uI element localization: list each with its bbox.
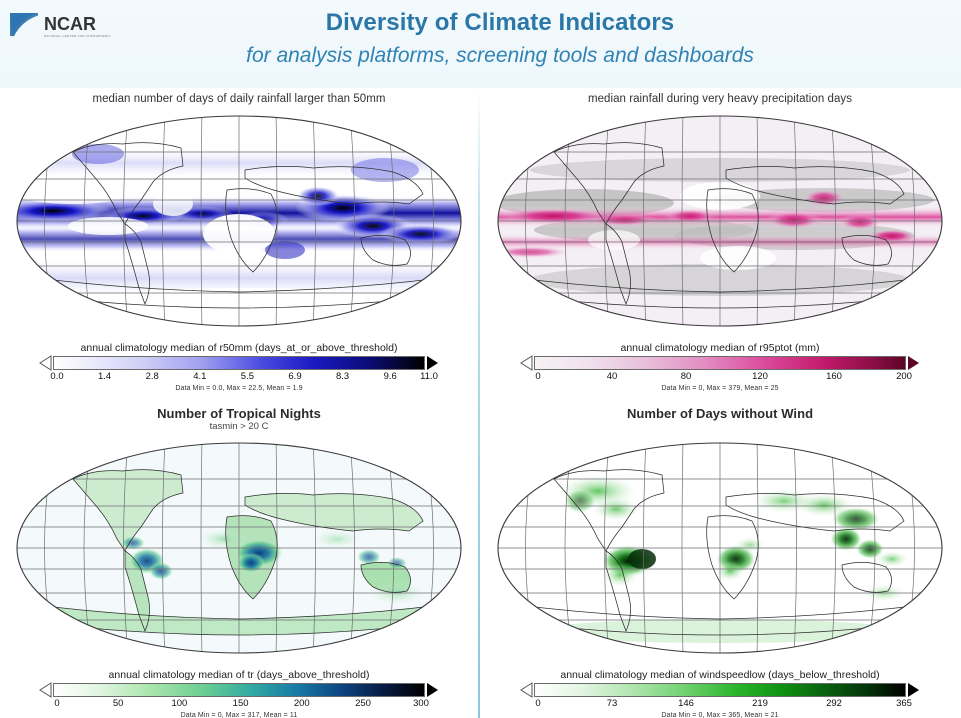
colorbar-right-arrow [906, 682, 920, 698]
tick: 2.8 [146, 371, 159, 382]
colorbar-ticks-r95ptot: 0 40 80 120 160 200 [520, 371, 920, 383]
map-panel-grid: median number of days of daily rainfall … [0, 88, 961, 718]
tick: 200 [896, 371, 912, 382]
tick: 50 [113, 698, 124, 709]
tick: 120 [752, 371, 768, 382]
tick: 160 [826, 371, 842, 382]
colorbar-strip-tr [53, 683, 425, 697]
panel-tr: Number of Tropical Nights tasmin > 20 C [0, 403, 478, 718]
colorbar-left-arrow [39, 355, 53, 371]
tick: 8.3 [336, 371, 349, 382]
ncar-logo: NCAR NATIONAL CENTER FOR ATMOSPHERIC RES… [8, 9, 112, 43]
panel-r50mm: median number of days of daily rainfall … [0, 88, 478, 403]
svg-text:NCAR: NCAR [44, 14, 96, 34]
colorbar-stats-windspeedlow: Data Min = 0, Max = 365, Mean = 21 [520, 711, 920, 718]
tick: 300 [413, 698, 429, 709]
tick: 0.0 [50, 371, 63, 382]
tick: 292 [826, 698, 842, 709]
tick: 6.9 [288, 371, 301, 382]
tick: 9.6 [384, 371, 397, 382]
tick: 5.5 [241, 371, 254, 382]
tick: 11.0 [420, 371, 438, 382]
tick: 150 [233, 698, 249, 709]
colorbar-stats-tr: Data Min = 0, Max = 317, Mean = 11 [39, 711, 439, 718]
tick: 250 [355, 698, 371, 709]
map-r95ptot [494, 108, 946, 340]
colorbar-label-tr: annual climatology median of tr (days_ab… [39, 669, 439, 682]
title-block: Diversity of Climate Indicators for anal… [150, 8, 850, 71]
map-windspeedlow [494, 435, 946, 667]
tick: 0 [535, 371, 540, 382]
page-title: Diversity of Climate Indicators [150, 8, 850, 38]
colorbar-r95ptot: annual climatology median of r95ptot (mm… [520, 342, 920, 394]
tick: 1.4 [98, 371, 111, 382]
colorbar-ticks-tr: 0 50 100 150 200 250 300 [39, 698, 439, 710]
panel-title-windspeedlow: Number of Days without Wind [481, 403, 959, 421]
colorbar-label-windspeedlow: annual climatology median of windspeedlo… [520, 669, 920, 682]
tick: 365 [896, 698, 912, 709]
colorbar-windspeedlow: annual climatology median of windspeedlo… [520, 669, 920, 718]
tick: 4.1 [193, 371, 206, 382]
tick: 73 [607, 698, 618, 709]
colorbar-strip-r50mm [53, 356, 425, 370]
slide-header: NCAR NATIONAL CENTER FOR ATMOSPHERIC RES… [0, 0, 961, 88]
colorbar-left-arrow [520, 355, 534, 371]
colorbar-label-r95ptot: annual climatology median of r95ptot (mm… [520, 342, 920, 355]
tick: 200 [294, 698, 310, 709]
colorbar-stats-r95ptot: Data Min = 0, Max = 379, Mean = 25 [520, 384, 920, 394]
map-tr [13, 435, 465, 667]
panel-subtitle-tr: tasmin > 20 C [0, 421, 478, 433]
colorbar-left-arrow [520, 682, 534, 698]
colorbar-tr: annual climatology median of tr (days_ab… [39, 669, 439, 718]
panel-title-r50mm: median number of days of daily rainfall … [0, 88, 478, 106]
tick: 40 [607, 371, 618, 382]
page-subtitle: for analysis platforms, screening tools … [150, 41, 850, 71]
colorbar-stats-r50mm: Data Min = 0.0, Max = 22.5, Mean = 1.9 [39, 384, 439, 394]
panel-windspeedlow: Number of Days without Wind [481, 403, 959, 718]
tick: 80 [681, 371, 692, 382]
svg-text:NATIONAL CENTER FOR ATMOSPHERI: NATIONAL CENTER FOR ATMOSPHERIC RESEARCH [44, 34, 112, 38]
tick: 0 [535, 698, 540, 709]
slide-root: NCAR NATIONAL CENTER FOR ATMOSPHERIC RES… [0, 0, 961, 718]
colorbar-ticks-windspeedlow: 0 73 146 219 292 365 [520, 698, 920, 710]
colorbar-right-arrow [906, 355, 920, 371]
colorbar-label-r50mm: annual climatology median of r50mm (days… [39, 342, 439, 355]
panel-title-r95ptot: median rainfall during very heavy precip… [481, 88, 959, 106]
tick: 219 [752, 698, 768, 709]
colorbar-r50mm: annual climatology median of r50mm (days… [39, 342, 439, 394]
colorbar-left-arrow [39, 682, 53, 698]
tick: 0 [54, 698, 59, 709]
colorbar-strip-windspeedlow [534, 683, 906, 697]
colorbar-right-arrow [425, 682, 439, 698]
panel-title-tr: Number of Tropical Nights [0, 403, 478, 421]
colorbar-right-arrow [425, 355, 439, 371]
tick: 146 [678, 698, 694, 709]
map-r50mm [13, 108, 465, 340]
tick: 100 [171, 698, 187, 709]
panel-r95ptot: median rainfall during very heavy precip… [481, 88, 959, 403]
colorbar-strip-r95ptot [534, 356, 906, 370]
colorbar-ticks-r50mm: 0.0 1.4 2.8 4.1 5.5 6.9 8.3 9.6 11.0 [39, 371, 439, 383]
